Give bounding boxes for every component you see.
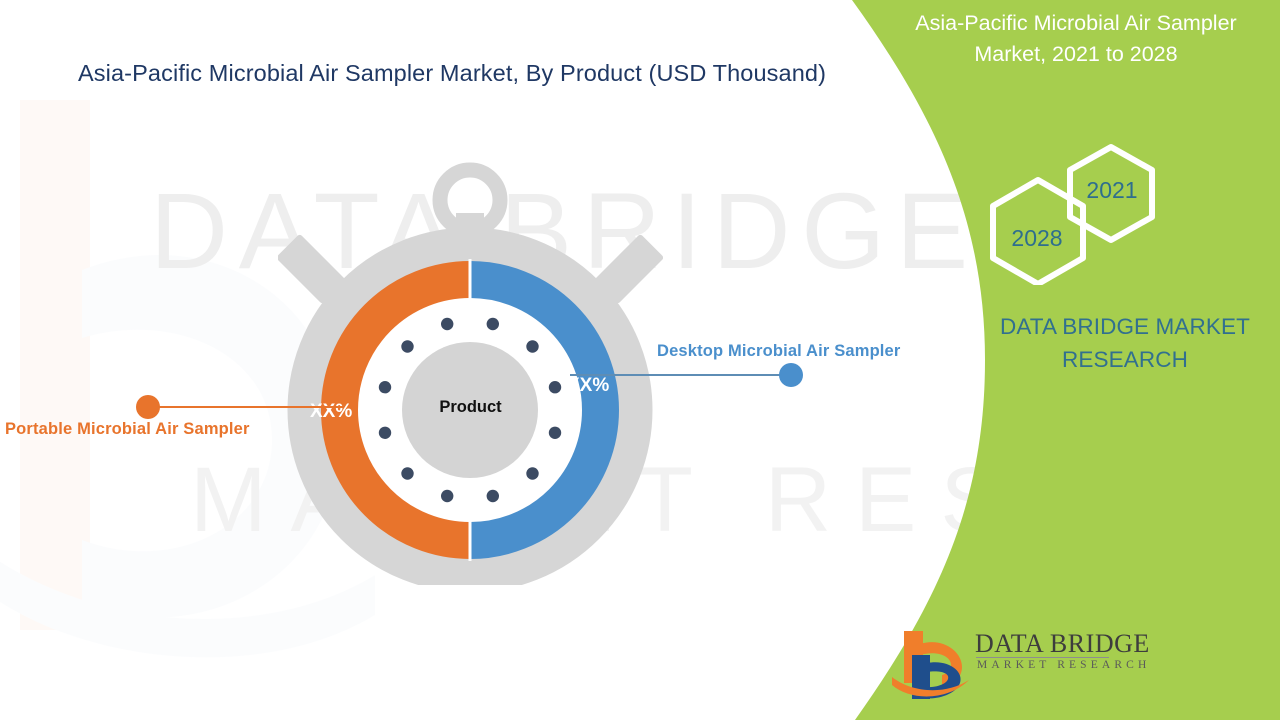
panel-title: Asia-Pacific Microbial Air Sampler Marke… [880, 8, 1272, 70]
donut-chart-svg [278, 160, 663, 585]
hexagon-2021-label: 2021 [1072, 177, 1152, 204]
donut-chart: Product [278, 160, 663, 585]
hexagon-badges: 2021 2028 [980, 135, 1190, 285]
panel-title-line-1: Asia-Pacific Microbial Air Sampler [880, 8, 1272, 39]
logo-text-main: DATA BRIDGE [975, 629, 1150, 659]
chart-title: Asia-Pacific Microbial Air Sampler Marke… [78, 60, 868, 87]
databridge-logo: DATA BRIDGE MARKET RESEARCH [890, 625, 1120, 700]
percent-label-portable: XX% [310, 401, 352, 423]
callout-dot-desktop [779, 363, 803, 387]
percent-label-desktop: XX% [567, 375, 609, 397]
callout-leader-line-portable [154, 406, 344, 408]
callout-leader-line-desktop [570, 374, 792, 376]
logo-divider [976, 657, 1109, 658]
panel-title-line-2: Market, 2021 to 2028 [880, 39, 1272, 70]
logo-text-sub: MARKET RESEARCH [977, 659, 1150, 671]
panel-brand-line-2: RESEARCH [965, 343, 1280, 376]
infographic-canvas: DATA BRIDGE MARKET RESEARCH Asia-Pacific… [0, 0, 1280, 720]
hexagon-2028-label: 2028 [992, 225, 1082, 252]
databridge-b-logo-icon [890, 627, 970, 702]
panel-brand-name: DATA BRIDGE MARKET RESEARCH [965, 310, 1280, 376]
callout-label-portable: Portable Microbial Air Sampler [5, 420, 250, 439]
callout-label-desktop: Desktop Microbial Air Sampler [657, 342, 901, 361]
panel-brand-line-1: DATA BRIDGE MARKET [965, 310, 1280, 343]
hexagon-badges-svg [980, 135, 1190, 285]
callout-dot-portable [136, 395, 160, 419]
